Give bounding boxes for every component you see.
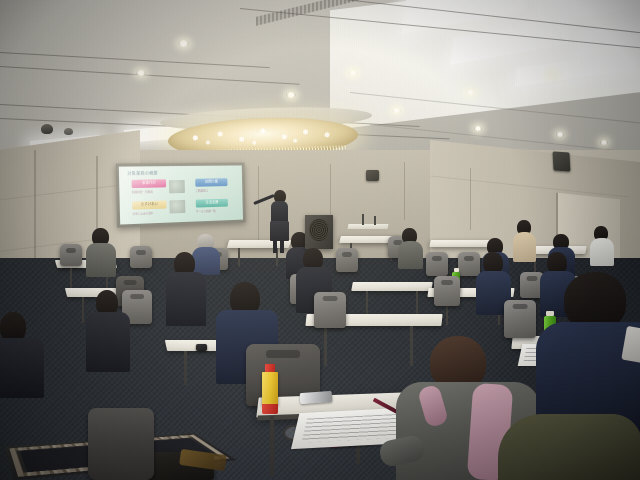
chair[interactable] xyxy=(130,246,152,268)
torso xyxy=(0,338,44,398)
table xyxy=(351,282,433,291)
downlight-icon xyxy=(348,70,358,76)
chair[interactable] xyxy=(336,248,358,272)
table-leg xyxy=(410,326,413,366)
slide-title: 対象業務の概要 xyxy=(127,170,158,177)
slide-caption-2: ご相談窓口 xyxy=(195,188,207,192)
slide-box-3: たすけあい xyxy=(132,200,167,209)
wall-seam xyxy=(404,162,405,220)
smartphone[interactable] xyxy=(196,344,207,351)
slide-box-4: 生活支援 xyxy=(196,199,228,208)
presenter-leg xyxy=(273,240,277,253)
downlight-icon xyxy=(466,90,475,95)
slide-box-1: 家事代行 xyxy=(132,179,167,188)
presenter-torso xyxy=(271,201,288,223)
presenter-skirt xyxy=(270,221,289,241)
bottle-cap xyxy=(546,311,554,316)
yellow-red-bottle xyxy=(262,372,278,406)
slide-caption-1: 利用料金・対象者 xyxy=(132,190,153,195)
table-leg xyxy=(324,326,327,366)
torso xyxy=(86,312,130,372)
slide-caption-4: サービス内容一覧 xyxy=(196,209,216,214)
screen-surface: 対象業務の概要 家事代行 訪問介護 たすけあい 生活支援 利用料金・対象者 ご相… xyxy=(119,165,243,224)
paper-text-lines xyxy=(302,414,408,442)
table-leg xyxy=(70,268,72,288)
table-leg xyxy=(270,416,274,476)
bottle-base xyxy=(262,404,278,414)
steel-tumbler xyxy=(300,391,333,404)
table-leg xyxy=(82,297,84,323)
table-leg xyxy=(238,248,240,266)
table-leg xyxy=(184,351,187,385)
chair[interactable] xyxy=(504,300,536,338)
mic-stand xyxy=(374,216,376,225)
seminar-room-photo: 対象業務の概要 家事代行 訪問介護 たすけあい 生活支援 利用料金・対象者 ご相… xyxy=(0,0,640,480)
wall-speaker-icon xyxy=(553,151,571,171)
chair[interactable] xyxy=(434,276,460,306)
chair[interactable] xyxy=(314,292,346,328)
downlight-icon xyxy=(136,70,146,76)
torso xyxy=(590,238,614,266)
downlight-icon xyxy=(178,40,189,47)
podium-table xyxy=(348,224,389,229)
ceiling-camera-icon xyxy=(64,128,73,135)
table xyxy=(429,240,492,247)
torso xyxy=(166,272,206,326)
torso xyxy=(513,232,536,262)
torso xyxy=(498,414,640,480)
downlight-icon xyxy=(600,140,608,145)
wall-seam xyxy=(470,168,471,230)
wall-seam xyxy=(34,150,36,270)
presenter-leg xyxy=(280,240,284,253)
chair[interactable] xyxy=(60,244,82,266)
downlight-icon xyxy=(286,92,296,98)
chair[interactable] xyxy=(458,252,480,276)
torso xyxy=(398,241,423,269)
chair[interactable] xyxy=(88,408,154,480)
slide-illustration xyxy=(169,200,185,214)
bottle-cap xyxy=(265,364,275,372)
ceiling-camera-icon xyxy=(41,124,53,134)
chair[interactable] xyxy=(426,252,448,276)
downlight-icon xyxy=(556,132,564,137)
slide-box-2: 訪問介護 xyxy=(195,178,227,186)
torso xyxy=(192,247,220,275)
wall-seam xyxy=(258,166,259,246)
projection-screen: 対象業務の概要 家事代行 訪問介護 たすけあい 生活支援 利用料金・対象者 ご相… xyxy=(116,162,246,227)
slide-caption-3: お申し込みの流れ xyxy=(132,211,153,216)
downlight-icon xyxy=(392,108,401,113)
downlight-icon xyxy=(548,72,557,77)
torso xyxy=(86,243,116,277)
speaker-grill-icon xyxy=(309,219,329,241)
av-speaker-cabinet xyxy=(305,215,333,249)
bottle-cap xyxy=(454,268,459,272)
downlight-icon xyxy=(474,126,482,131)
slide-illustration xyxy=(169,180,185,193)
mic-stand xyxy=(362,214,364,225)
wall-speaker-icon xyxy=(366,170,379,181)
